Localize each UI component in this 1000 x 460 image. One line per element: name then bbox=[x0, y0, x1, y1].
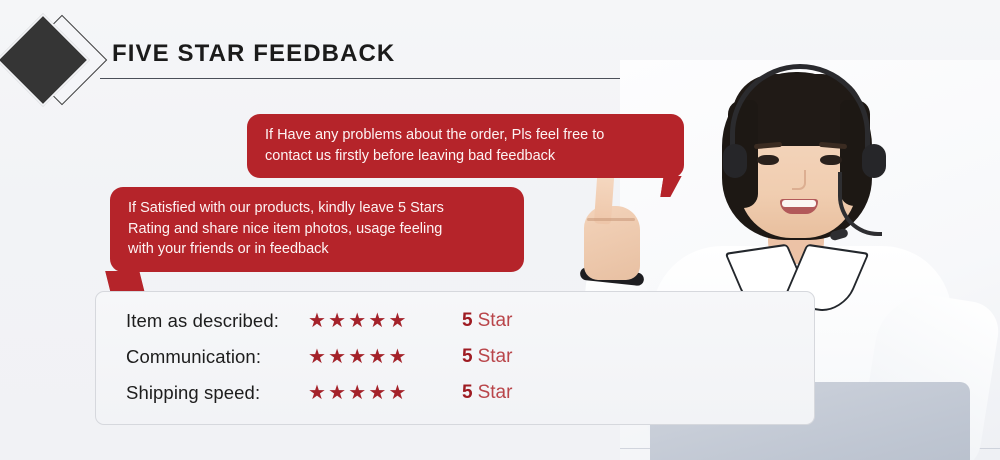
bubble-line: contact us firstly before leaving bad fe… bbox=[265, 146, 668, 167]
agent-nose bbox=[792, 170, 806, 190]
rating-label: Item as described: bbox=[126, 310, 308, 332]
rating-unit: Star bbox=[478, 310, 513, 332]
rating-row-shipping-speed: Shipping speed: ★★★★★ 5 Star bbox=[126, 375, 596, 411]
rating-unit: Star bbox=[478, 346, 513, 368]
bubble-tail bbox=[660, 176, 681, 197]
rating-score: 5 bbox=[462, 346, 473, 368]
headset-earcup-left-icon bbox=[723, 144, 747, 178]
rating-row-communication: Communication: ★★★★★ 5 Star bbox=[126, 339, 596, 375]
hand-knuckles bbox=[587, 218, 635, 221]
agent-teeth bbox=[782, 200, 816, 207]
diamond-badge-icon bbox=[0, 13, 90, 106]
rating-unit: Star bbox=[478, 382, 513, 404]
rating-label: Shipping speed: bbox=[126, 382, 308, 404]
ratings-list: Item as described: ★★★★★ 5 Star Communic… bbox=[126, 303, 596, 411]
rating-score: 5 bbox=[462, 310, 473, 332]
star-rating-icon: ★★★★★ bbox=[308, 383, 448, 403]
bubble-tail bbox=[105, 271, 144, 293]
feedback-banner: FIVE STAR FEEDBACK bbox=[0, 0, 1000, 460]
rating-row-item-as-described: Item as described: ★★★★★ 5 Star bbox=[126, 303, 596, 339]
agent-eye-left bbox=[757, 155, 779, 165]
agent-mouth bbox=[780, 199, 818, 214]
satisfied-bubble: If Satisfied with our products, kindly l… bbox=[110, 187, 524, 272]
bubble-line: If Have any problems about the order, Pl… bbox=[265, 125, 668, 146]
page-title: FIVE STAR FEEDBACK bbox=[112, 40, 395, 68]
star-rating-icon: ★★★★★ bbox=[308, 347, 448, 367]
agent-eye-right bbox=[820, 155, 842, 165]
order-problem-bubble: If Have any problems about the order, Pl… bbox=[247, 114, 684, 178]
bubble-line: Rating and share nice item photos, usage… bbox=[128, 219, 508, 240]
bubble-line: If Satisfied with our products, kindly l… bbox=[128, 198, 508, 219]
star-rating-icon: ★★★★★ bbox=[308, 311, 448, 331]
bubble-line: with your friends or in feedback bbox=[128, 239, 508, 260]
rating-score: 5 bbox=[462, 382, 473, 404]
rating-label: Communication: bbox=[126, 346, 308, 368]
